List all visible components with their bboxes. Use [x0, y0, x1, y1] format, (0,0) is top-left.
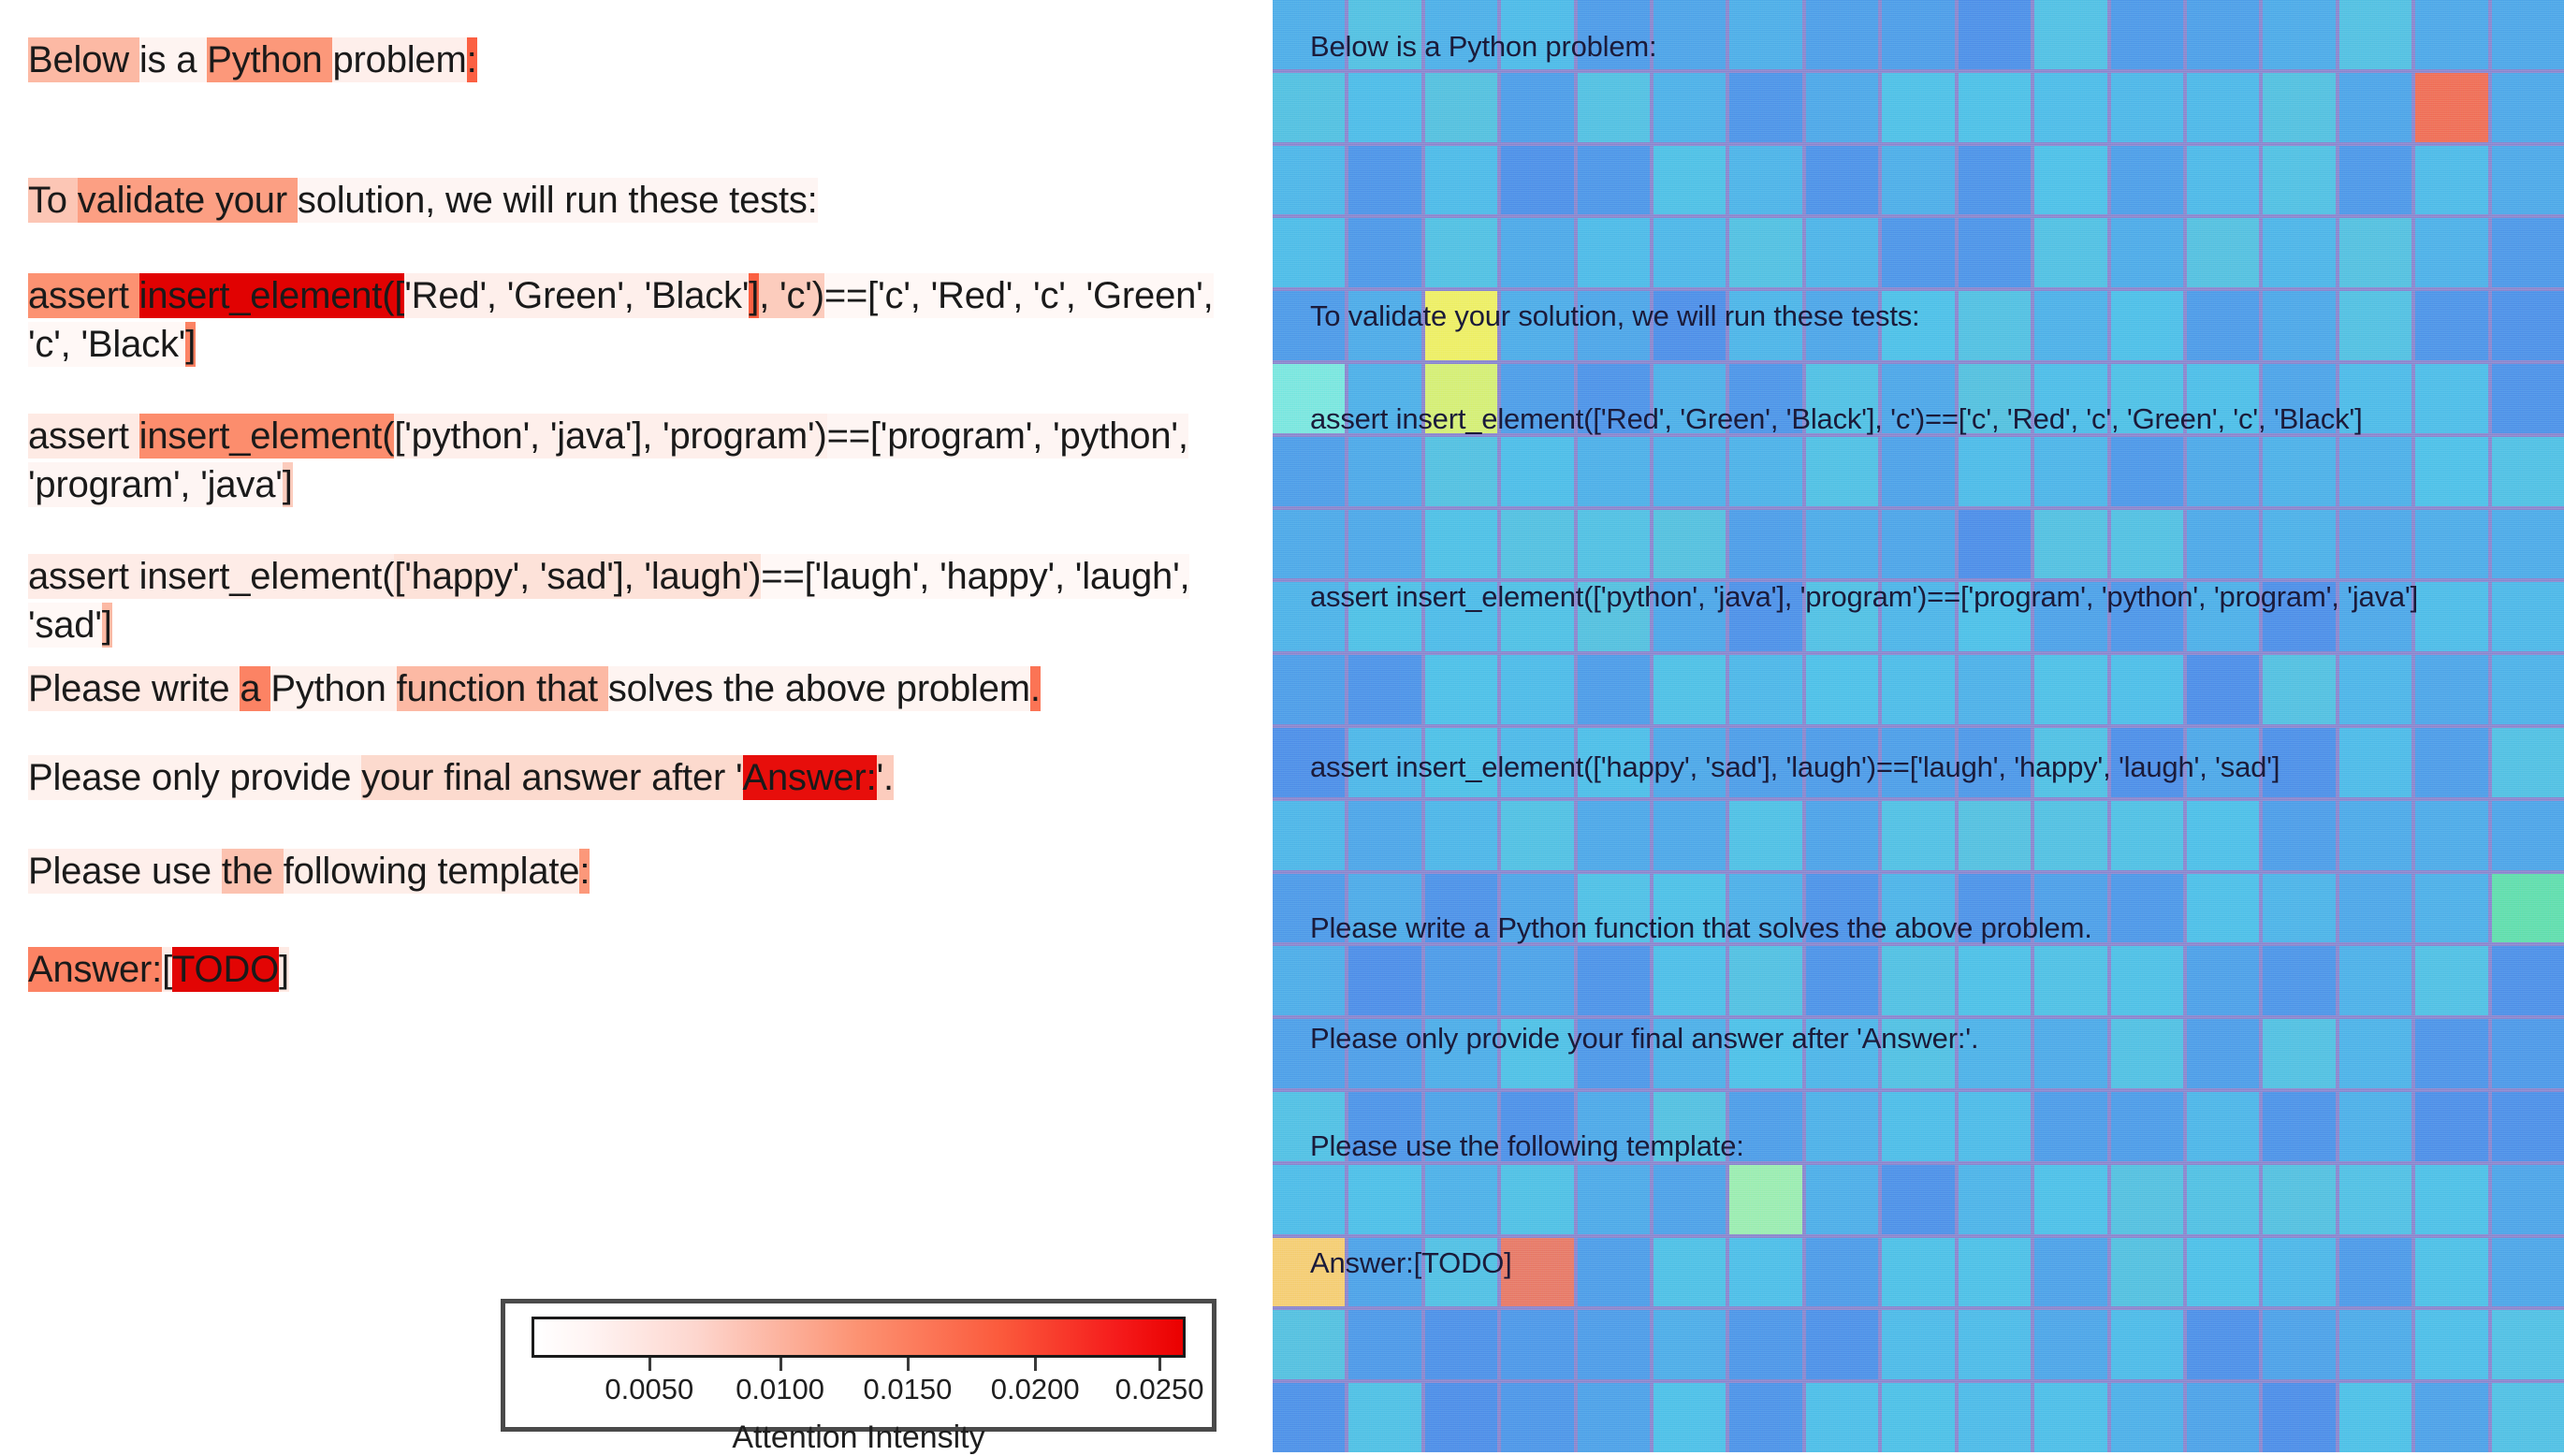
- highlighted-token: ]: [279, 947, 289, 992]
- heatmap-cell: [1959, 1165, 2031, 1234]
- heatmap-cell: [2187, 146, 2259, 215]
- heatmap-cell: [1806, 1383, 1878, 1452]
- heatmap-cell: [1806, 801, 1878, 870]
- heatmap-cell: [1425, 1383, 1497, 1452]
- heatmap-cell: [2415, 946, 2487, 1015]
- highlighted-token: Please write: [28, 666, 240, 711]
- heatmap-cell: [1273, 655, 1345, 724]
- highlighted-token: Below: [28, 37, 139, 82]
- heatmap-cell: [2187, 1165, 2259, 1234]
- highlighted-token: Python: [270, 666, 396, 711]
- colorbar-tick: [1158, 1358, 1161, 1371]
- line-please-write: Please write a Python function that solv…: [28, 664, 1245, 713]
- heatmap-cell: [1959, 73, 2031, 142]
- heatmap-cell: [1959, 218, 2031, 287]
- heatmap-cell: [2339, 655, 2411, 724]
- heatmap-cell: [2263, 73, 2335, 142]
- heatmap-cell: [2111, 218, 2183, 287]
- heatmap-cell: [2187, 801, 2259, 870]
- heatmap-cell: [1882, 655, 1954, 724]
- highlighted-token: ]: [185, 322, 196, 367]
- heatmap-cell: [1653, 146, 1726, 215]
- heatmap-cell: [1806, 946, 1878, 1015]
- highlighted-token: assert: [28, 273, 139, 318]
- heatmap-cell: [1348, 1165, 1420, 1234]
- highlighted-token: insert_element([: [139, 273, 405, 318]
- heatmap-cell: [2415, 1310, 2487, 1379]
- heatmap-cell: [2415, 218, 2487, 287]
- heatmap-cell: [1501, 1383, 1573, 1452]
- heatmap-cell: [1425, 946, 1497, 1015]
- heatmap-cell: [2492, 1383, 2564, 1452]
- heatmap-cell: [1653, 946, 1726, 1015]
- heatmap-cell: [2111, 801, 2183, 870]
- heatmap-cell: [1578, 1165, 1650, 1234]
- heatmap-cell: [2492, 218, 2564, 287]
- heatmap-cell: [2492, 73, 2564, 142]
- heatmap-cell: [1653, 655, 1726, 724]
- heatmap-cell: [2034, 1383, 2106, 1452]
- colorbar-gradient-reds: [532, 1317, 1186, 1358]
- r-line-assert2: assert insert_element(['python', 'java']…: [1310, 578, 2555, 616]
- heatmap-cell: [2415, 510, 2487, 579]
- heatmap-cell: [1653, 1383, 1726, 1452]
- heatmap-cell: [2111, 437, 2183, 506]
- heatmap-cell: [1425, 437, 1497, 506]
- heatmap-cell: [1273, 510, 1345, 579]
- heatmap-cell: [2034, 437, 2106, 506]
- heatmap-cell: [2034, 655, 2106, 724]
- attention-intensity-colorbar-reds: 0.00500.01000.01500.02000.0250 Attention…: [501, 1299, 1216, 1432]
- heatmap-cell: [2492, 1165, 2564, 1234]
- heatmap-cell: [1578, 146, 1650, 215]
- heatmap-cell: [1501, 801, 1573, 870]
- heatmap-cell: [1578, 655, 1650, 724]
- heatmap-cell: [2111, 655, 2183, 724]
- heatmap-cell: [1348, 146, 1420, 215]
- heatmap-cell: [1806, 218, 1878, 287]
- left-token-highlight-panel: Below is a Python problem:To validate yo…: [0, 0, 1273, 1452]
- heatmap-cell: [2187, 946, 2259, 1015]
- heatmap-cell: [2415, 73, 2487, 142]
- heatmap-cell: [2111, 1310, 2183, 1379]
- highlighted-token: To: [28, 178, 78, 223]
- heatmap-cell: [2263, 437, 2335, 506]
- heatmap-cell: [1882, 437, 1954, 506]
- heatmap-cell: [1729, 801, 1801, 870]
- heatmap-cell: [2415, 801, 2487, 870]
- heatmap-cell: [2111, 1165, 2183, 1234]
- right-attention-heatmap-panel: Below is a Python problem:To validate yo…: [1273, 0, 2564, 1452]
- heatmap-cell: [2034, 801, 2106, 870]
- heatmap-cell: [2339, 1165, 2411, 1234]
- heatmap-cell: [1959, 946, 2031, 1015]
- heatmap-cell: [2492, 1310, 2564, 1379]
- heatmap-cell: [1425, 1310, 1497, 1379]
- highlighted-token: TODO: [172, 947, 279, 992]
- heatmap-cell: [2263, 1165, 2335, 1234]
- line-please-use-template: Please use the following template:: [28, 847, 1245, 895]
- highlighted-token: following template: [284, 849, 580, 894]
- colorbar-tick: [648, 1358, 651, 1371]
- heatmap-cell: [1729, 1383, 1801, 1452]
- heatmap-cell: [1729, 73, 1801, 142]
- highlighted-token: ]: [749, 273, 759, 318]
- heatmap-cell: [2187, 437, 2259, 506]
- heatmap-cell: [1959, 801, 2031, 870]
- heatmap-cell: [1348, 218, 1420, 287]
- heatmap-cell: [1578, 801, 1650, 870]
- highlighted-token: insert_element(: [139, 414, 395, 459]
- heatmap-cell: [2263, 801, 2335, 870]
- heatmap-grid: [1273, 0, 2564, 1452]
- heatmap-cell: [1653, 73, 1726, 142]
- heatmap-cell: [1348, 73, 1420, 142]
- heatmap-cell: [2415, 655, 2487, 724]
- heatmap-cell: [1806, 655, 1878, 724]
- heatmap-cell: [1729, 946, 1801, 1015]
- heatmap-cell: [2339, 946, 2411, 1015]
- line-answer-todo: Answer:[TODO]: [28, 945, 1245, 994]
- colorbar-tick-label: 0.0200: [991, 1373, 1080, 1406]
- heatmap-cell: [1653, 801, 1726, 870]
- heatmap-cell: [1273, 946, 1345, 1015]
- heatmap-cell: [1653, 1165, 1726, 1234]
- heatmap-cell: [1348, 1310, 1420, 1379]
- heatmap-cell: [2034, 218, 2106, 287]
- heatmap-cell: [1501, 1165, 1573, 1234]
- heatmap-cell: [1729, 1310, 1801, 1379]
- heatmap-cell: [2339, 218, 2411, 287]
- heatmap-cell: [2111, 146, 2183, 215]
- heatmap-cell: [2339, 146, 2411, 215]
- heatmap-cell: [2339, 1383, 2411, 1452]
- highlighted-token: , 'c'): [759, 273, 824, 318]
- heatmap-cell: [1273, 73, 1345, 142]
- r-line-please-write: Please write a Python function that solv…: [1310, 910, 2555, 947]
- highlighted-token: ['python', 'java'], 'program'): [394, 414, 826, 459]
- heatmap-cell: [1882, 218, 1954, 287]
- heatmap-cell: [1806, 510, 1878, 579]
- highlighted-token: solution, we will run these tests:: [298, 178, 818, 223]
- line-please-only-provide: Please only provide your final answer af…: [28, 753, 1245, 802]
- heatmap-cell: [2339, 73, 2411, 142]
- heatmap-cell: [1882, 1165, 1954, 1234]
- highlighted-token: Please only provide: [28, 755, 361, 800]
- heatmap-cell: [1501, 146, 1573, 215]
- heatmap-cell: [2263, 510, 2335, 579]
- line-assert-3: assert insert_element(['happy', 'sad'], …: [28, 552, 1245, 649]
- heatmap-cell: [1425, 218, 1497, 287]
- highlighted-token: '.: [877, 755, 894, 800]
- r-line-assert3: assert insert_element(['happy', 'sad'], …: [1310, 749, 2555, 786]
- heatmap-cell: [1959, 655, 2031, 724]
- heatmap-cell: [2415, 437, 2487, 506]
- highlighted-token: ['happy', 'sad'], 'laugh'): [394, 554, 761, 599]
- heatmap-cell: [2415, 1383, 2487, 1452]
- heatmap-cell: [1425, 655, 1497, 724]
- figure-root: Below is a Python problem:To validate yo…: [0, 0, 2564, 1452]
- line-below-is-a-python-problem: Below is a Python problem:: [28, 36, 1245, 84]
- heatmap-cell: [1959, 437, 2031, 506]
- heatmap-cell: [2111, 73, 2183, 142]
- heatmap-cell: [2187, 1383, 2259, 1452]
- heatmap-cell: [1348, 946, 1420, 1015]
- heatmap-cell: [1578, 73, 1650, 142]
- heatmap-cell: [1729, 437, 1801, 506]
- highlighted-token: assert: [28, 414, 139, 459]
- heatmap-cell: [1273, 437, 1345, 506]
- heatmap-cell: [2187, 510, 2259, 579]
- heatmap-cell: [2034, 73, 2106, 142]
- heatmap-cell: [1653, 510, 1726, 579]
- highlighted-token: problem: [332, 37, 466, 82]
- heatmap-cell: [1882, 1310, 1954, 1379]
- heatmap-cell: [2492, 437, 2564, 506]
- heatmap-cell: [1578, 1310, 1650, 1379]
- r-line-please-use: Please use the following template:: [1310, 1128, 2555, 1165]
- heatmap-cell: [1501, 437, 1573, 506]
- heatmap-cell: [2415, 1165, 2487, 1234]
- heatmap-cell: [1882, 1383, 1954, 1452]
- heatmap-cell: [2492, 946, 2564, 1015]
- heatmap-cell: [2263, 218, 2335, 287]
- highlighted-token: is a: [139, 37, 207, 82]
- highlighted-token: a: [240, 666, 270, 711]
- heatmap-cell: [1348, 510, 1420, 579]
- heatmap-cell: [2492, 146, 2564, 215]
- highlighted-token: ]: [102, 603, 112, 648]
- r-line-please-only: Please only provide your final answer af…: [1310, 1020, 2555, 1057]
- heatmap-cell: [1882, 146, 1954, 215]
- line-assert-2: assert insert_element(['python', 'java']…: [28, 412, 1245, 509]
- heatmap-cell: [1653, 218, 1726, 287]
- heatmap-cell: [2263, 946, 2335, 1015]
- heatmap-cell: [1425, 801, 1497, 870]
- colorbar-ticklabels: 0.00500.01000.01500.02000.0250: [532, 1373, 1186, 1412]
- highlighted-token: :: [579, 849, 590, 894]
- heatmap-cell: [2034, 510, 2106, 579]
- heatmap-cell: [2339, 510, 2411, 579]
- highlighted-token: Answer:: [743, 755, 877, 800]
- heatmap-cell: [1959, 1383, 2031, 1452]
- heatmap-cell: [1959, 146, 2031, 215]
- heatmap-cell: [1425, 510, 1497, 579]
- heatmap-cell: [1806, 1310, 1878, 1379]
- colorbar-tick-label: 0.0050: [605, 1373, 693, 1406]
- line-assert-1: assert insert_element(['Red', 'Green', '…: [28, 271, 1245, 369]
- heatmap-cell: [2034, 1165, 2106, 1234]
- colorbar-tick-label: 0.0150: [864, 1373, 953, 1406]
- heatmap-cell: [2492, 510, 2564, 579]
- heatmap-cell: [1806, 73, 1878, 142]
- heatmap-cell: [2263, 1310, 2335, 1379]
- heatmap-cell: [1273, 1383, 1345, 1452]
- highlighted-token: solves the above problem: [608, 666, 1030, 711]
- heatmap-cell: [1273, 801, 1345, 870]
- heatmap-cell: [2415, 146, 2487, 215]
- heatmap-cell: [1653, 1310, 1726, 1379]
- r-line-validate: To validate your solution, we will run t…: [1310, 298, 2555, 335]
- heatmap-cell: [2034, 146, 2106, 215]
- heatmap-cell: [1578, 510, 1650, 579]
- heatmap-cell: [1882, 510, 1954, 579]
- heatmap-cell: [1578, 437, 1650, 506]
- highlighted-token: ]: [283, 462, 293, 507]
- highlighted-token: 'Red', 'Green', 'Black': [404, 273, 749, 318]
- r-line-assert1: assert insert_element(['Red', 'Green', '…: [1310, 400, 2555, 438]
- heatmap-cell: [2339, 1310, 2411, 1379]
- highlighted-token: assert insert_element(: [28, 554, 394, 599]
- heatmap-cell: [1425, 73, 1497, 142]
- heatmap-cell: [2111, 1383, 2183, 1452]
- heatmap-cell: [2263, 655, 2335, 724]
- heatmap-cell: [1729, 218, 1801, 287]
- highlighted-token: :: [467, 37, 477, 82]
- heatmap-cell: [2339, 801, 2411, 870]
- heatmap-cell: [1501, 73, 1573, 142]
- heatmap-cell: [2187, 1310, 2259, 1379]
- colorbar-tick: [907, 1358, 910, 1371]
- heatmap-cell: [1882, 946, 1954, 1015]
- heatmap-cell: [1501, 946, 1573, 1015]
- heatmap-cell: [1578, 1383, 1650, 1452]
- highlighted-token: your final answer after ': [361, 755, 742, 800]
- heatmap-cell: [2263, 1383, 2335, 1452]
- colorbar-title: Attention Intensity: [532, 1420, 1186, 1456]
- colorbar-tick-label: 0.0250: [1115, 1373, 1204, 1406]
- heatmap-cell: [2339, 437, 2411, 506]
- heatmap-cell: [2263, 146, 2335, 215]
- colorbar-tick: [779, 1358, 782, 1371]
- highlighted-token: .: [1030, 666, 1041, 711]
- line-to-validate-your-solution: To validate your solution, we will run t…: [28, 176, 1245, 225]
- heatmap-cell: [1273, 218, 1345, 287]
- heatmap-cell: [1348, 801, 1420, 870]
- highlighted-token: Please use: [28, 849, 222, 894]
- heatmap-cell: [1578, 218, 1650, 287]
- heatmap-cell: [1273, 146, 1345, 215]
- heatmap-cell: [2187, 218, 2259, 287]
- heatmap-cell: [1501, 1310, 1573, 1379]
- heatmap-cell: [2492, 655, 2564, 724]
- colorbar-tick-label: 0.0100: [736, 1373, 824, 1406]
- heatmap-cell: [1959, 510, 2031, 579]
- r-line-answer: Answer:[TODO]: [1310, 1245, 2555, 1282]
- heatmap-cell: [1273, 1310, 1345, 1379]
- colorbar-tickmarks: [532, 1358, 1186, 1373]
- heatmap-cell: [1425, 146, 1497, 215]
- heatmap-cell: [1273, 1165, 1345, 1234]
- r-line-below: Below is a Python problem:: [1310, 28, 2555, 66]
- heatmap-cell: [2187, 655, 2259, 724]
- highlighted-token: the: [222, 849, 284, 894]
- heatmap-cell: [2111, 946, 2183, 1015]
- heatmap-cell: [1578, 946, 1650, 1015]
- heatmap-cell: [2034, 946, 2106, 1015]
- heatmap-cell: [1729, 510, 1801, 579]
- heatmap-cell: [1806, 146, 1878, 215]
- heatmap-cell: [1501, 655, 1573, 724]
- heatmap-cell: [1425, 1165, 1497, 1234]
- highlighted-token: validate your: [78, 178, 298, 223]
- heatmap-cell: [1882, 801, 1954, 870]
- heatmap-cell: [1348, 437, 1420, 506]
- heatmap-cell: [1882, 73, 1954, 142]
- highlighted-token: function that: [397, 666, 608, 711]
- heatmap-cell: [1653, 437, 1726, 506]
- heatmap-cell: [1348, 1383, 1420, 1452]
- heatmap-cell: [2492, 801, 2564, 870]
- heatmap-cell: [1806, 437, 1878, 506]
- heatmap-cell: [1501, 218, 1573, 287]
- heatmap-cell: [2187, 73, 2259, 142]
- colorbar-tick: [1034, 1358, 1037, 1371]
- heatmap-cell: [1348, 655, 1420, 724]
- heatmap-cell: [2034, 1310, 2106, 1379]
- heatmap-cell: [1729, 1165, 1801, 1234]
- heatmap-cell: [2111, 510, 2183, 579]
- heatmap-cell: [1806, 1165, 1878, 1234]
- highlighted-token: [: [162, 947, 172, 992]
- heatmap-cell: [1959, 1310, 2031, 1379]
- highlighted-token: Python: [207, 37, 332, 82]
- heatmap-cell: [1501, 510, 1573, 579]
- heatmap-cell: [1729, 146, 1801, 215]
- highlighted-token: Answer:: [28, 947, 162, 992]
- heatmap-cell: [1729, 655, 1801, 724]
